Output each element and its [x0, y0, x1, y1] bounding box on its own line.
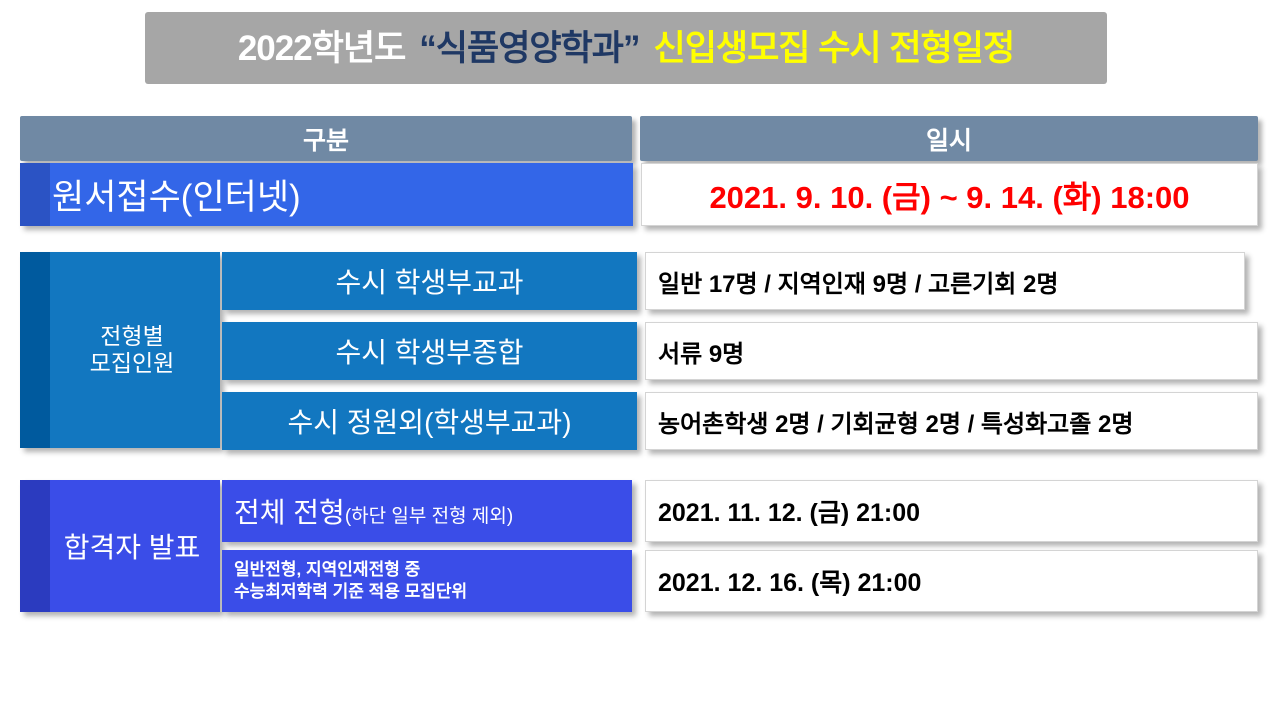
quota-row-2-sublabel-cell: 수시 학생부종합	[222, 322, 637, 380]
quota-row-1-value-cell: 일반 17명 / 지역인재 9명 / 고른기회 2명	[645, 252, 1245, 310]
announcement-row-2-sublabel-line1: 일반전형, 지역인재전형 중	[234, 560, 420, 579]
header-category: 구분	[20, 116, 632, 161]
section-application-label-cell: 원서접수(인터넷)	[20, 163, 633, 226]
quota-row-1-sublabel-cell: 수시 학생부교과	[222, 252, 637, 310]
announcement-row-2-value: 2021. 12. 16. (목) 21:00	[646, 563, 921, 599]
quota-row-3-value: 농어촌학생 2명 / 기회균형 2명 / 특성화고졸 2명	[646, 404, 1133, 439]
quota-row-2-sublabel: 수시 학생부종합	[335, 331, 523, 371]
announcement-row-2-sublabel-cell: 일반전형, 지역인재전형 중 수능최저학력 기준 적용 모집단위	[222, 550, 632, 612]
application-date-cell: 2021. 9. 10. (금) ~ 9. 14. (화) 18:00	[641, 163, 1258, 226]
quota-row-2-value: 서류 9명	[646, 334, 744, 369]
quota-row-3-sublabel: 수시 정원외(학생부교과)	[287, 401, 571, 441]
section-quota-label-line1: 전형별	[100, 323, 163, 349]
announcement-row-1-value-cell: 2021. 11. 12. (금) 21:00	[645, 480, 1258, 542]
announcement-row-1-value: 2021. 11. 12. (금) 21:00	[646, 493, 920, 529]
quota-row-1-sublabel: 수시 학생부교과	[335, 261, 523, 301]
section-application-label: 원서접수(인터넷)	[20, 169, 301, 220]
quota-row-1-value: 일반 17명 / 지역인재 9명 / 고른기회 2명	[646, 264, 1058, 299]
announcement-row-1-sublabel-cell: 전체 전형(하단 일부 전형 제외)	[222, 480, 632, 542]
announcement-row-2-sublabel-line2: 수능최저학력 기준 적용 모집단위	[234, 582, 467, 601]
title-year: 2022학년도	[238, 31, 405, 66]
announcement-row-2-value-cell: 2021. 12. 16. (목) 21:00	[645, 550, 1258, 612]
section-quota-label-line2: 모집인원	[90, 350, 175, 376]
title-tail: 신입생모집 수시 전형일정	[654, 31, 1015, 66]
announcement-row-1-sublabel: 전체 전형	[234, 497, 345, 528]
section-quota-accent-stripe	[20, 252, 50, 448]
section-announcement-label-cell: 합격자 발표	[20, 480, 220, 612]
quota-row-3-value-cell: 농어촌학생 2명 / 기회균형 2명 / 특성화고졸 2명	[645, 392, 1258, 450]
header-datetime: 일시	[640, 116, 1258, 161]
title-department: “식품영양학과”	[419, 31, 639, 66]
section-announcement-label: 합격자 발표	[40, 526, 201, 566]
section-quota-label-cell: 전형별 모집인원	[20, 252, 220, 448]
title-banner: 2022학년도 “식품영양학과” 신입생모집 수시 전형일정	[145, 12, 1107, 84]
quota-row-3-sublabel-cell: 수시 정원외(학생부교과)	[222, 392, 637, 450]
quota-row-2-value-cell: 서류 9명	[645, 322, 1258, 380]
application-date-value: 2021. 9. 10. (금) ~ 9. 14. (화) 18:00	[709, 172, 1189, 217]
announcement-row-1-sublabel-note: (하단 일부 전형 제외)	[345, 506, 513, 527]
